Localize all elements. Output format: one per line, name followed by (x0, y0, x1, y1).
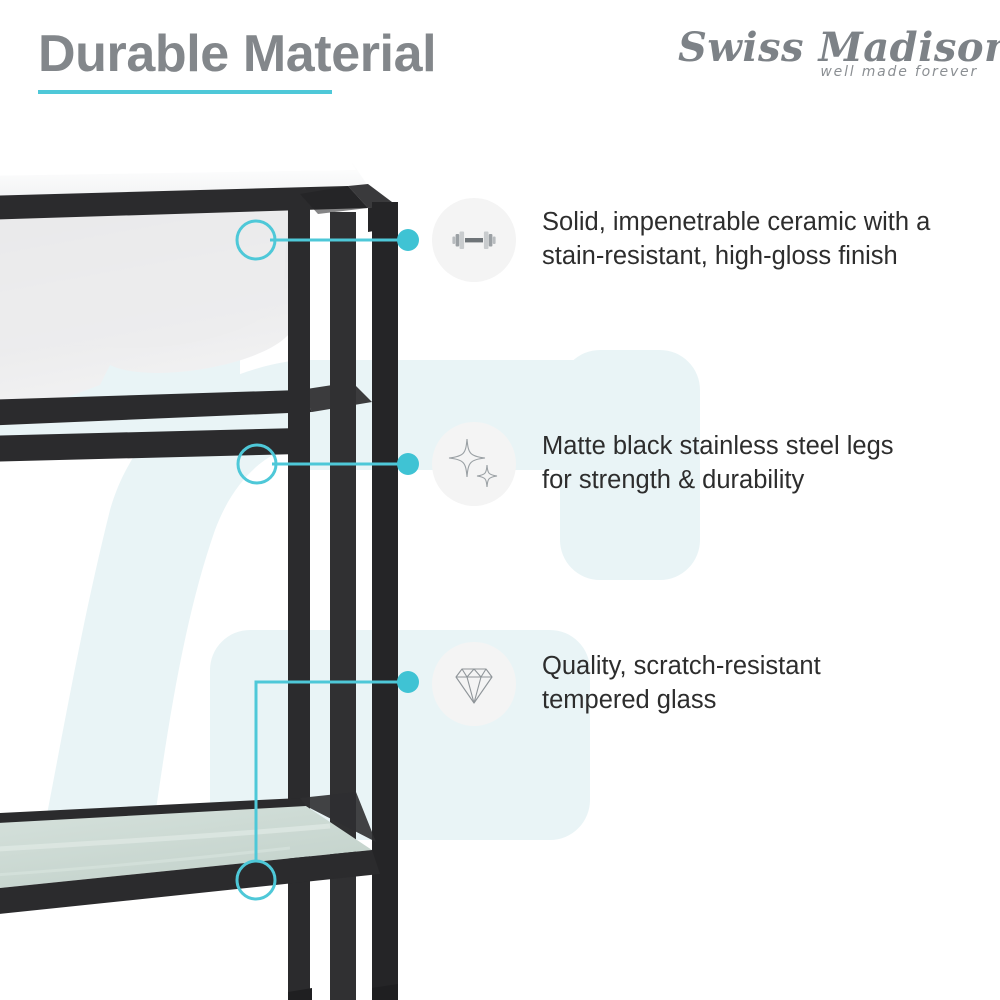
dumbbell-icon (432, 198, 516, 282)
feature-callout-1: Solid, impenetrable ceramic with a stain… (432, 198, 930, 282)
product-image (0, 150, 420, 1000)
title-underline (38, 90, 332, 94)
feature-callout-3: Quality, scratch-resistant tempered glas… (432, 642, 821, 726)
frame-mid-rail-front (0, 428, 300, 462)
feature-text-2: Matte black stainless steel legs for str… (542, 430, 894, 498)
page-title: Durable Material (38, 24, 436, 84)
infographic-page: Durable Material Swiss Madison® well mad… (0, 0, 1000, 1000)
feature-callout-2: Matte black stainless steel legs for str… (432, 422, 894, 506)
diamond-icon (432, 642, 516, 726)
frame-leg-front (372, 202, 398, 1000)
feature-text-1: Solid, impenetrable ceramic with a stain… (542, 206, 930, 274)
brand-logo: Swiss Madison® well made forever (678, 28, 978, 94)
brand-name: Swiss Madison® (678, 28, 978, 68)
sparkle-icon (432, 422, 516, 506)
frame-leg-middle (330, 212, 356, 1000)
feature-text-3: Quality, scratch-resistant tempered glas… (542, 650, 821, 718)
